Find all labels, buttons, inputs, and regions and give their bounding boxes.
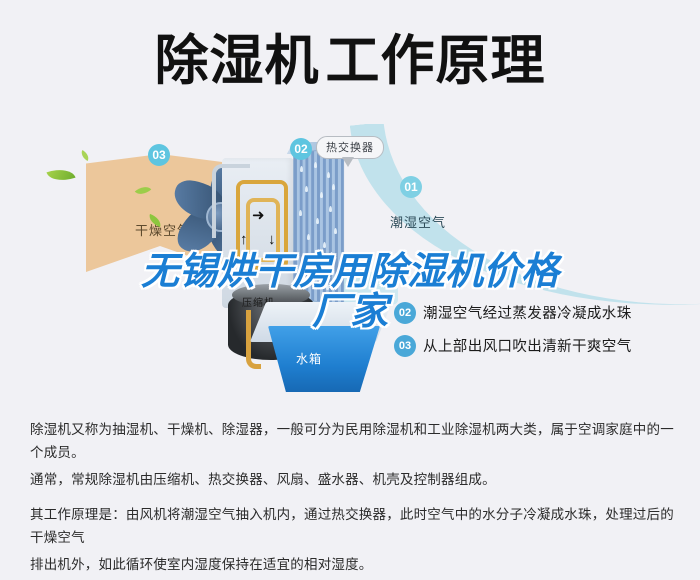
- step-number: 02: [394, 302, 416, 324]
- title-band: 除湿机工作原理: [0, 0, 700, 124]
- badge-03: 03: [148, 144, 170, 166]
- illustration-stage: 干燥空气 ➜ ↑ ↓: [0, 124, 700, 408]
- step-label: 从上部出风口吹出清新干爽空气: [423, 335, 632, 356]
- leaf-icon: [79, 150, 91, 161]
- title-part-2: 工作原理: [326, 31, 546, 91]
- badge-02: 02: [290, 138, 312, 160]
- step-item: 02 潮湿空气经过蒸发器冷凝成水珠: [394, 296, 694, 329]
- flow-arrow-down-icon: ↓: [268, 232, 276, 247]
- paragraph-1-line-1: 除湿机又称为抽湿机、干燥机、除湿器，一般可分为民用除湿机和工业除湿机两大类，属于…: [30, 418, 676, 464]
- water-tank-label: 水箱: [296, 350, 322, 367]
- paragraph-2-line-1: 其工作原理是：由风机将潮湿空气抽入机内，通过热交换器，此时空气中的水分子冷凝成水…: [30, 503, 676, 549]
- badge-01: 01: [400, 176, 422, 198]
- water-tank-graphic: [268, 326, 380, 392]
- paragraph-2-line-2: 排出机外，如此循环使室内湿度保持在适宜的相对湿度。: [30, 553, 676, 576]
- step-item: 03 从上部出风口吹出清新干爽空气: [394, 329, 694, 362]
- leaf-icon: [46, 164, 75, 185]
- body-copy: 除湿机又称为抽湿机、干燥机、除湿器，一般可分为民用除湿机和工业除湿机两大类，属于…: [30, 418, 676, 580]
- step-list: 02 潮湿空气经过蒸发器冷凝成水珠 03 从上部出风口吹出清新干爽空气: [394, 296, 694, 362]
- callout-stem-icon: [342, 157, 354, 167]
- flow-arrow-up-icon: ↑: [240, 232, 248, 247]
- condensation-droplets-graphic: [296, 158, 338, 296]
- title-part-1: 除湿机: [155, 31, 320, 91]
- step-number: 03: [394, 335, 416, 357]
- page-title: 除湿机工作原理: [0, 30, 700, 92]
- paragraph-gap: [30, 495, 676, 503]
- humid-air-label: 潮湿空气: [390, 212, 446, 231]
- heat-exchanger-callout: 热交换器: [316, 136, 384, 159]
- infographic-page: 除湿机工作原理 干燥空气 ➜ ↑ ↓: [0, 0, 700, 566]
- paragraph-1-line-2: 通常，常规除湿机由压缩机、热交换器、风扇、盛水器、机壳及控制器组成。: [30, 468, 676, 491]
- flow-arrow-right-icon: ➜: [252, 208, 265, 223]
- step-label: 潮湿空气经过蒸发器冷凝成水珠: [423, 302, 632, 323]
